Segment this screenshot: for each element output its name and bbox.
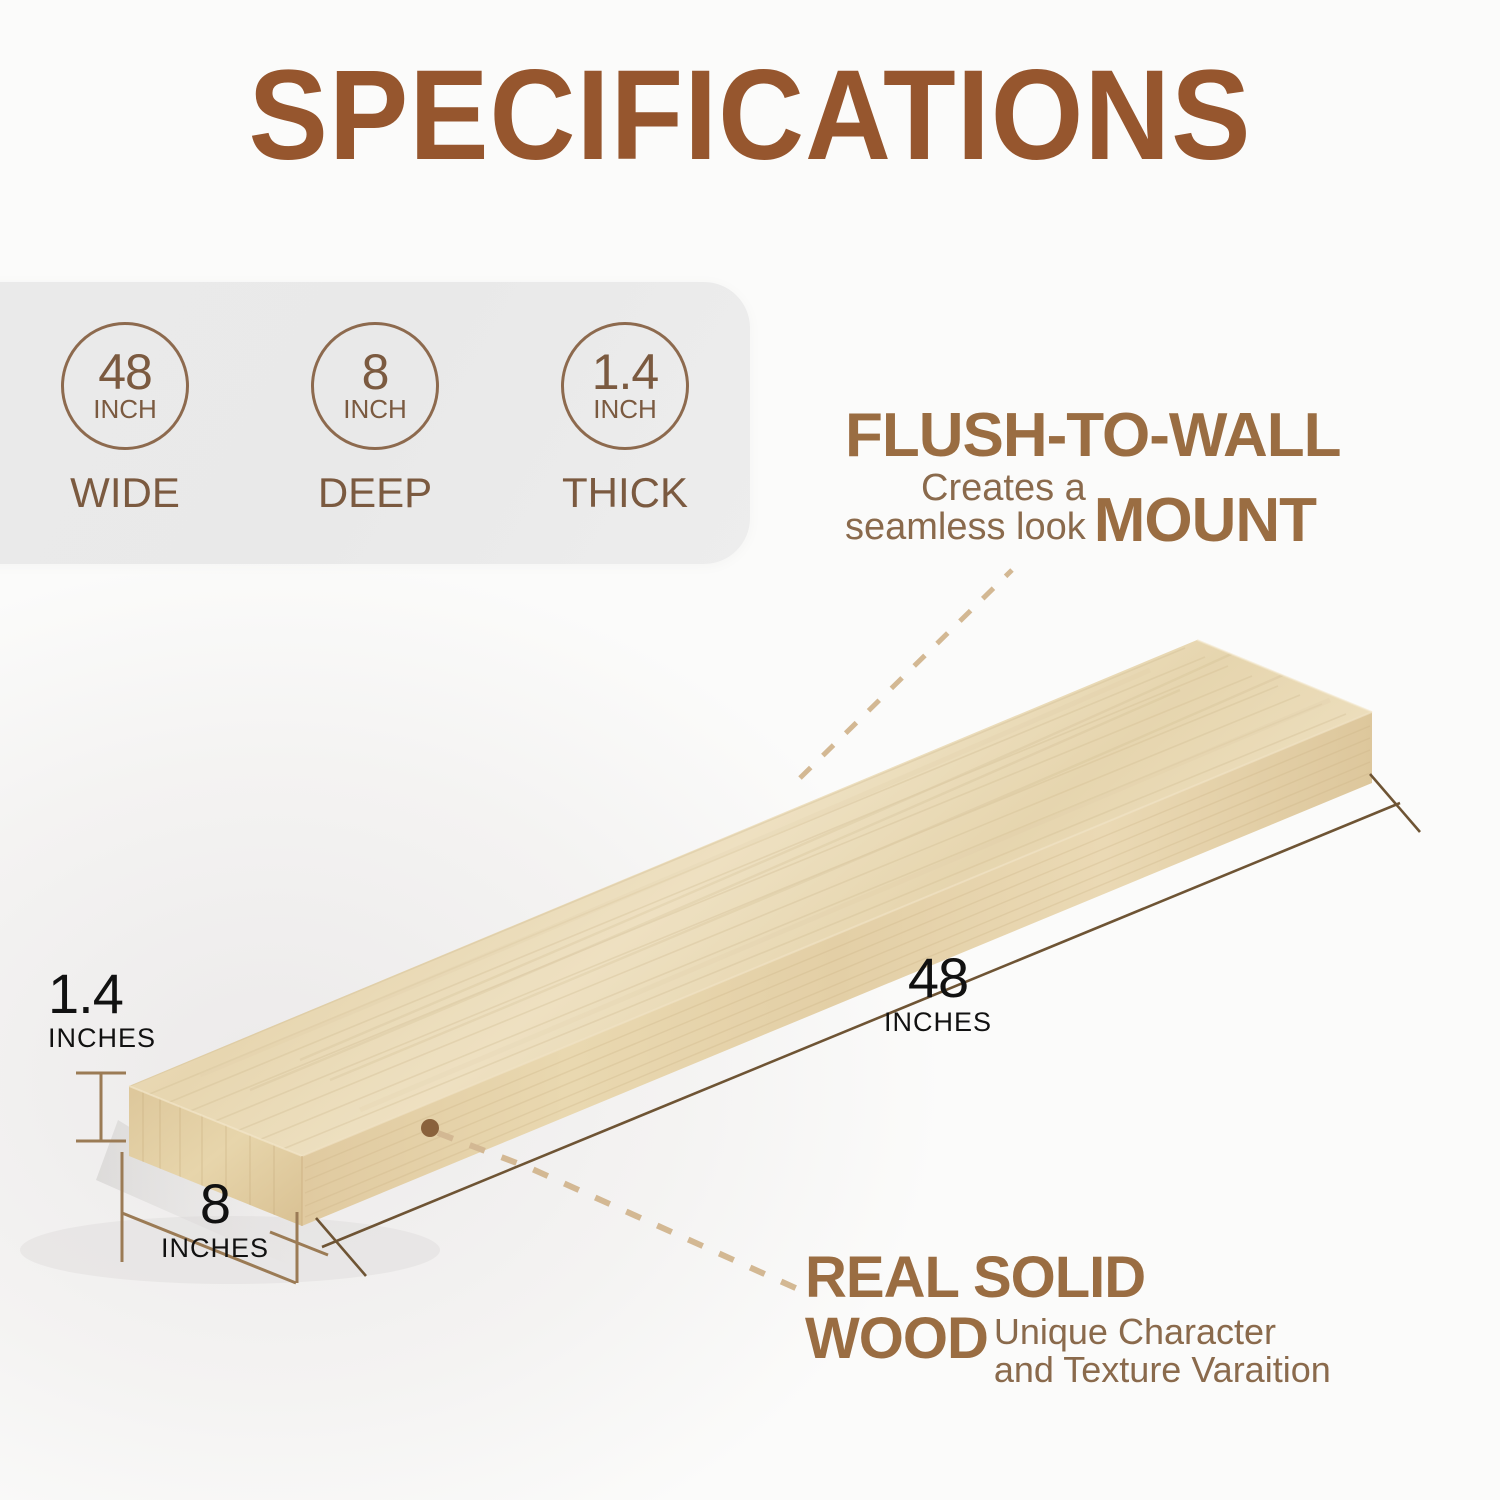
spec-badge-wide: 48 INCH WIDE <box>0 322 250 514</box>
depth-dimension-label: 8 INCHES <box>150 1176 280 1264</box>
badge-unit-thick: INCH <box>593 396 657 423</box>
width-unit: INCHES <box>868 1006 1008 1038</box>
depth-unit: INCHES <box>150 1232 280 1264</box>
badge-label-deep: DEEP <box>318 472 432 514</box>
spec-panel: 48 INCH WIDE 8 INCH DEEP 1.4 INCH THICK <box>0 282 750 564</box>
thickness-value: 1.4 <box>48 966 156 1022</box>
badge-unit-deep: INCH <box>343 396 407 423</box>
badge-value-deep: 8 <box>362 349 389 395</box>
badge-label-thick: THICK <box>562 472 688 514</box>
mount-subtext-line2: seamless look <box>845 508 1086 547</box>
thickness-unit: INCHES <box>48 1022 156 1054</box>
wood-anchor-dot <box>421 1119 439 1137</box>
badge-circle-deep: 8 INCH <box>311 322 439 450</box>
mount-subtext: Creates a seamless look <box>845 469 1086 552</box>
mount-subtext-line1: Creates a <box>845 469 1086 508</box>
width-value: 48 <box>868 950 1008 1006</box>
badge-value-thick: 1.4 <box>592 349 659 395</box>
badge-value-wide: 48 <box>98 349 152 395</box>
callout-real-solid-wood: REAL SOLID WOOD Unique Character and Tex… <box>805 1248 1465 1390</box>
specifications-infographic: SPECIFICATIONS 48 INCH WIDE 8 INCH DEEP <box>0 0 1500 1500</box>
depth-value: 8 <box>150 1176 280 1232</box>
badge-label-wide: WIDE <box>70 472 180 514</box>
wood-headline-line2: WOOD <box>805 1309 988 1369</box>
badge-unit-wide: INCH <box>93 396 157 423</box>
badge-circle-thick: 1.4 INCH <box>561 322 689 450</box>
spec-badge-deep: 8 INCH DEEP <box>250 322 500 514</box>
wood-subtext-line2: and Texture Varaition <box>994 1351 1331 1389</box>
wood-headline-line1: REAL SOLID <box>805 1248 1465 1308</box>
thickness-dimension-label: 1.4 INCHES <box>48 966 156 1054</box>
width-dim-line <box>322 803 1400 1247</box>
wood-subtext: Unique Character and Texture Varaition <box>994 1309 1331 1389</box>
width-dimension-label: 48 INCHES <box>868 950 1008 1038</box>
wood-subtext-line1: Unique Character <box>994 1313 1331 1351</box>
spec-badge-row: 48 INCH WIDE 8 INCH DEEP 1.4 INCH THICK <box>0 282 750 564</box>
mount-headline-line1: FLUSH-TO-WALL <box>845 404 1465 467</box>
spec-badge-thick: 1.4 INCH THICK <box>500 322 750 514</box>
wood-leader-line <box>438 1133 800 1290</box>
callout-flush-to-wall-mount: FLUSH-TO-WALL Creates a seamless look MO… <box>845 404 1465 552</box>
mount-headline-line2: MOUNT <box>1094 490 1316 552</box>
mount-leader-line <box>800 570 1012 778</box>
badge-circle-wide: 48 INCH <box>61 322 189 450</box>
page-title: SPECIFICATIONS <box>53 52 1448 180</box>
